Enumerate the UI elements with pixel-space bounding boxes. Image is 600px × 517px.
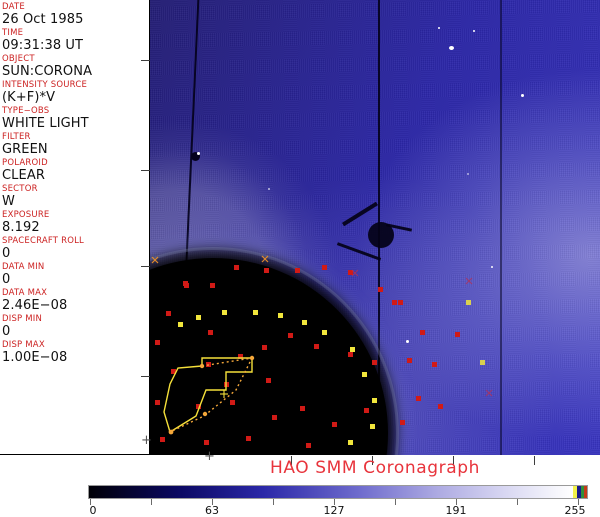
colorbar-track[interactable] bbox=[88, 485, 588, 499]
field-label: DATA MIN bbox=[2, 262, 149, 272]
metadata-field-data-max: DATA MAX 2.46E−08 bbox=[2, 288, 149, 313]
metadata-field-intensity-source: INTENSITY SOURCE (K+F)*V bbox=[2, 80, 149, 105]
yellow-marker-group bbox=[178, 300, 485, 445]
coronagraph-viewer: DATE 26 Oct 1985 TIME 09:31:38 UT OBJECT… bbox=[0, 0, 600, 512]
colorbar-minor-tick bbox=[273, 499, 274, 505]
metadata-field-filter: FILTER GREEN bbox=[2, 132, 149, 157]
axis-tick-left bbox=[141, 60, 150, 61]
intensity-colorbar[interactable]: 0 63 127 191 255 bbox=[88, 485, 588, 512]
metadata-field-disp-min: DISP MIN 0 bbox=[2, 314, 149, 339]
colorbar-label: 0 bbox=[90, 504, 97, 517]
field-label: DATA MAX bbox=[2, 288, 149, 298]
field-value: 26 Oct 1985 bbox=[2, 12, 149, 27]
feature-polygon bbox=[164, 358, 252, 432]
metadata-field-spacecraft-roll: SPACECRAFT ROLL 0 bbox=[2, 236, 149, 261]
field-value: 09:31:38 UT bbox=[2, 38, 149, 53]
colorbar-label: 127 bbox=[324, 504, 345, 517]
field-value: W bbox=[2, 194, 149, 209]
field-value: (K+F)*V bbox=[2, 90, 149, 105]
axis-tick-left bbox=[141, 266, 150, 267]
field-value: 0 bbox=[2, 324, 149, 339]
colorbar-minor-tick bbox=[151, 499, 152, 505]
colorbar-minor-tick bbox=[395, 499, 396, 505]
field-value: WHITE LIGHT bbox=[2, 116, 149, 131]
sky-field bbox=[150, 0, 600, 455]
colorbar-label: 191 bbox=[446, 504, 467, 517]
x-marker-group bbox=[152, 256, 268, 263]
coronagraph-image[interactable] bbox=[150, 0, 600, 455]
colorbar-stripe-red bbox=[584, 486, 587, 498]
field-value: SUN:CORONA bbox=[2, 64, 149, 79]
field-label: DISP MIN bbox=[2, 314, 149, 324]
field-label: TYPE−OBS bbox=[2, 106, 149, 116]
metadata-field-sector: SECTOR W bbox=[2, 184, 149, 209]
field-label: EXPOSURE bbox=[2, 210, 149, 220]
metadata-field-date: DATE 26 Oct 1985 bbox=[2, 2, 149, 27]
field-label: TIME bbox=[2, 28, 149, 38]
field-value: 2.46E−08 bbox=[2, 298, 149, 313]
metadata-field-disp-max: DISP MAX 1.00E−08 bbox=[2, 340, 149, 365]
field-label: FILTER bbox=[2, 132, 149, 142]
metadata-field-exposure: EXPOSURE 8.192 bbox=[2, 210, 149, 235]
axis-tick-left bbox=[141, 376, 150, 377]
page-title: HAO SMM Coronagraph bbox=[150, 455, 600, 480]
feature-overlay bbox=[150, 0, 600, 455]
field-label: SECTOR bbox=[2, 184, 149, 194]
metadata-field-data-min: DATA MIN 0 bbox=[2, 262, 149, 287]
axis-tick-left bbox=[141, 170, 150, 171]
metadata-field-object: OBJECT SUN:CORONA bbox=[2, 54, 149, 79]
field-label: POLAROID bbox=[2, 158, 149, 168]
field-label: OBJECT bbox=[2, 54, 149, 64]
field-value: 0 bbox=[2, 246, 149, 261]
field-label: DISP MAX bbox=[2, 340, 149, 350]
red-marker-group bbox=[155, 265, 460, 448]
field-label: SPACECRAFT ROLL bbox=[2, 236, 149, 246]
metadata-sidebar: DATE 26 Oct 1985 TIME 09:31:38 UT OBJECT… bbox=[0, 0, 150, 455]
colorbar-label: 63 bbox=[205, 504, 219, 517]
field-value: CLEAR bbox=[2, 168, 149, 183]
field-value: 8.192 bbox=[2, 220, 149, 235]
field-value: GREEN bbox=[2, 142, 149, 157]
metadata-field-polaroid: POLAROID CLEAR bbox=[2, 158, 149, 183]
colorbar-label: 255 bbox=[565, 504, 586, 517]
metadata-field-type-obs: TYPE−OBS WHITE LIGHT bbox=[2, 106, 149, 131]
colorbar-gradient bbox=[89, 486, 573, 498]
field-label: DATE bbox=[2, 2, 149, 12]
metadata-field-time: TIME 09:31:38 UT bbox=[2, 28, 149, 53]
centroid-marker bbox=[220, 390, 228, 398]
field-label: INTENSITY SOURCE bbox=[2, 80, 149, 90]
field-value: 0 bbox=[2, 272, 149, 287]
field-value: 1.00E−08 bbox=[2, 350, 149, 365]
axis-origin-marker-left: + bbox=[141, 434, 152, 447]
colorbar-minor-tick bbox=[517, 499, 518, 505]
